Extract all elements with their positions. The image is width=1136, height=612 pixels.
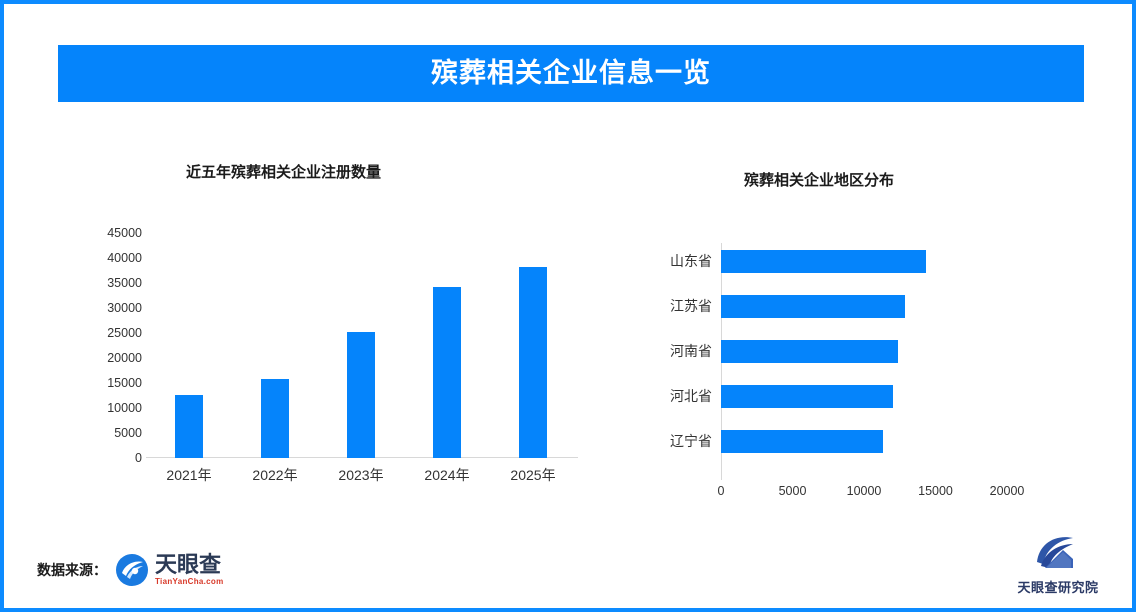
infographic-page: 殡葬相关企业信息一览 近五年殡葬相关企业注册数量 450004000035000… xyxy=(0,0,1136,612)
province-label: 江苏省 xyxy=(634,294,712,319)
institute-mark-icon xyxy=(1029,532,1087,574)
tianyancha-logo: 天眼查 TianYanCha.com xyxy=(115,553,224,587)
left-chart-y-tick: 5000 xyxy=(90,426,142,440)
region-distribution-bar-chart: 山东省江苏省河南省河北省辽宁省05000100001500020000 xyxy=(634,234,1054,509)
left-chart-x-label: 2021年 xyxy=(146,465,232,485)
left-chart-y-tick: 35000 xyxy=(90,276,142,290)
province-label: 山东省 xyxy=(634,249,712,274)
data-source-footer: 数据来源： 天眼查 TianYanCha.com xyxy=(37,553,224,587)
institute-logo: 天眼查研究院 xyxy=(1010,532,1106,596)
registrations-bar-chart: 4500040000350003000025000200001500010000… xyxy=(90,222,590,497)
vertical-bar[interactable] xyxy=(175,395,203,458)
left-chart-x-label: 2024年 xyxy=(404,465,490,485)
left-chart-plot-area xyxy=(146,233,576,458)
tianyancha-mark-icon xyxy=(115,553,149,587)
right-chart-title: 殡葬相关企业地区分布 xyxy=(744,169,894,190)
horizontal-bar[interactable] xyxy=(721,430,883,453)
horizontal-bar-row: 河南省 xyxy=(634,339,1054,364)
vertical-bar[interactable] xyxy=(433,287,461,458)
left-chart-y-tick: 45000 xyxy=(90,226,142,240)
left-chart-x-label: 2023年 xyxy=(318,465,404,485)
horizontal-bar[interactable] xyxy=(721,295,905,318)
province-label: 辽宁省 xyxy=(634,429,712,454)
vertical-bar-slot xyxy=(404,233,490,458)
vertical-bar-slot xyxy=(146,233,232,458)
left-chart-y-tick: 15000 xyxy=(90,376,142,390)
right-chart-x-tick: 10000 xyxy=(847,484,882,498)
horizontal-bar[interactable] xyxy=(721,340,898,363)
horizontal-bar-row: 江苏省 xyxy=(634,294,1054,319)
right-chart-x-tick: 0 xyxy=(718,484,725,498)
left-chart-x-label: 2025年 xyxy=(490,465,576,485)
tianyancha-brand-en: TianYanCha.com xyxy=(155,578,224,586)
left-chart-y-tick: 0 xyxy=(90,451,142,465)
vertical-bar-slot xyxy=(232,233,318,458)
vertical-bar[interactable] xyxy=(347,332,375,459)
horizontal-bar-row: 山东省 xyxy=(634,249,1054,274)
left-chart-y-tick: 20000 xyxy=(90,351,142,365)
left-chart-y-tick: 40000 xyxy=(90,251,142,265)
province-label: 河北省 xyxy=(634,384,712,409)
horizontal-bar[interactable] xyxy=(721,385,893,408)
institute-name: 天眼查研究院 xyxy=(1017,577,1098,596)
right-chart-x-tick: 5000 xyxy=(779,484,807,498)
horizontal-bar-row: 河北省 xyxy=(634,384,1054,409)
province-label: 河南省 xyxy=(634,339,712,364)
right-chart-x-tick: 15000 xyxy=(918,484,953,498)
page-title: 殡葬相关企业信息一览 xyxy=(431,60,711,87)
data-source-label: 数据来源： xyxy=(37,560,107,580)
left-chart-y-tick: 25000 xyxy=(90,326,142,340)
left-chart-title: 近五年殡葬相关企业注册数量 xyxy=(186,161,381,182)
left-chart-x-label: 2022年 xyxy=(232,465,318,485)
page-title-banner: 殡葬相关企业信息一览 xyxy=(58,45,1084,102)
left-chart-y-tick: 30000 xyxy=(90,301,142,315)
vertical-bar-slot xyxy=(490,233,576,458)
vertical-bar-slot xyxy=(318,233,404,458)
left-chart-y-tick: 10000 xyxy=(90,401,142,415)
tianyancha-brand-cn: 天眼查 xyxy=(155,554,224,576)
vertical-bar[interactable] xyxy=(261,379,289,458)
tianyancha-wordmark: 天眼查 TianYanCha.com xyxy=(155,554,224,586)
right-chart-x-tick: 20000 xyxy=(990,484,1025,498)
horizontal-bar[interactable] xyxy=(721,250,926,273)
horizontal-bar-row: 辽宁省 xyxy=(634,429,1054,454)
left-chart-y-axis: 4500040000350003000025000200001500010000… xyxy=(90,233,142,458)
vertical-bar[interactable] xyxy=(519,267,547,459)
